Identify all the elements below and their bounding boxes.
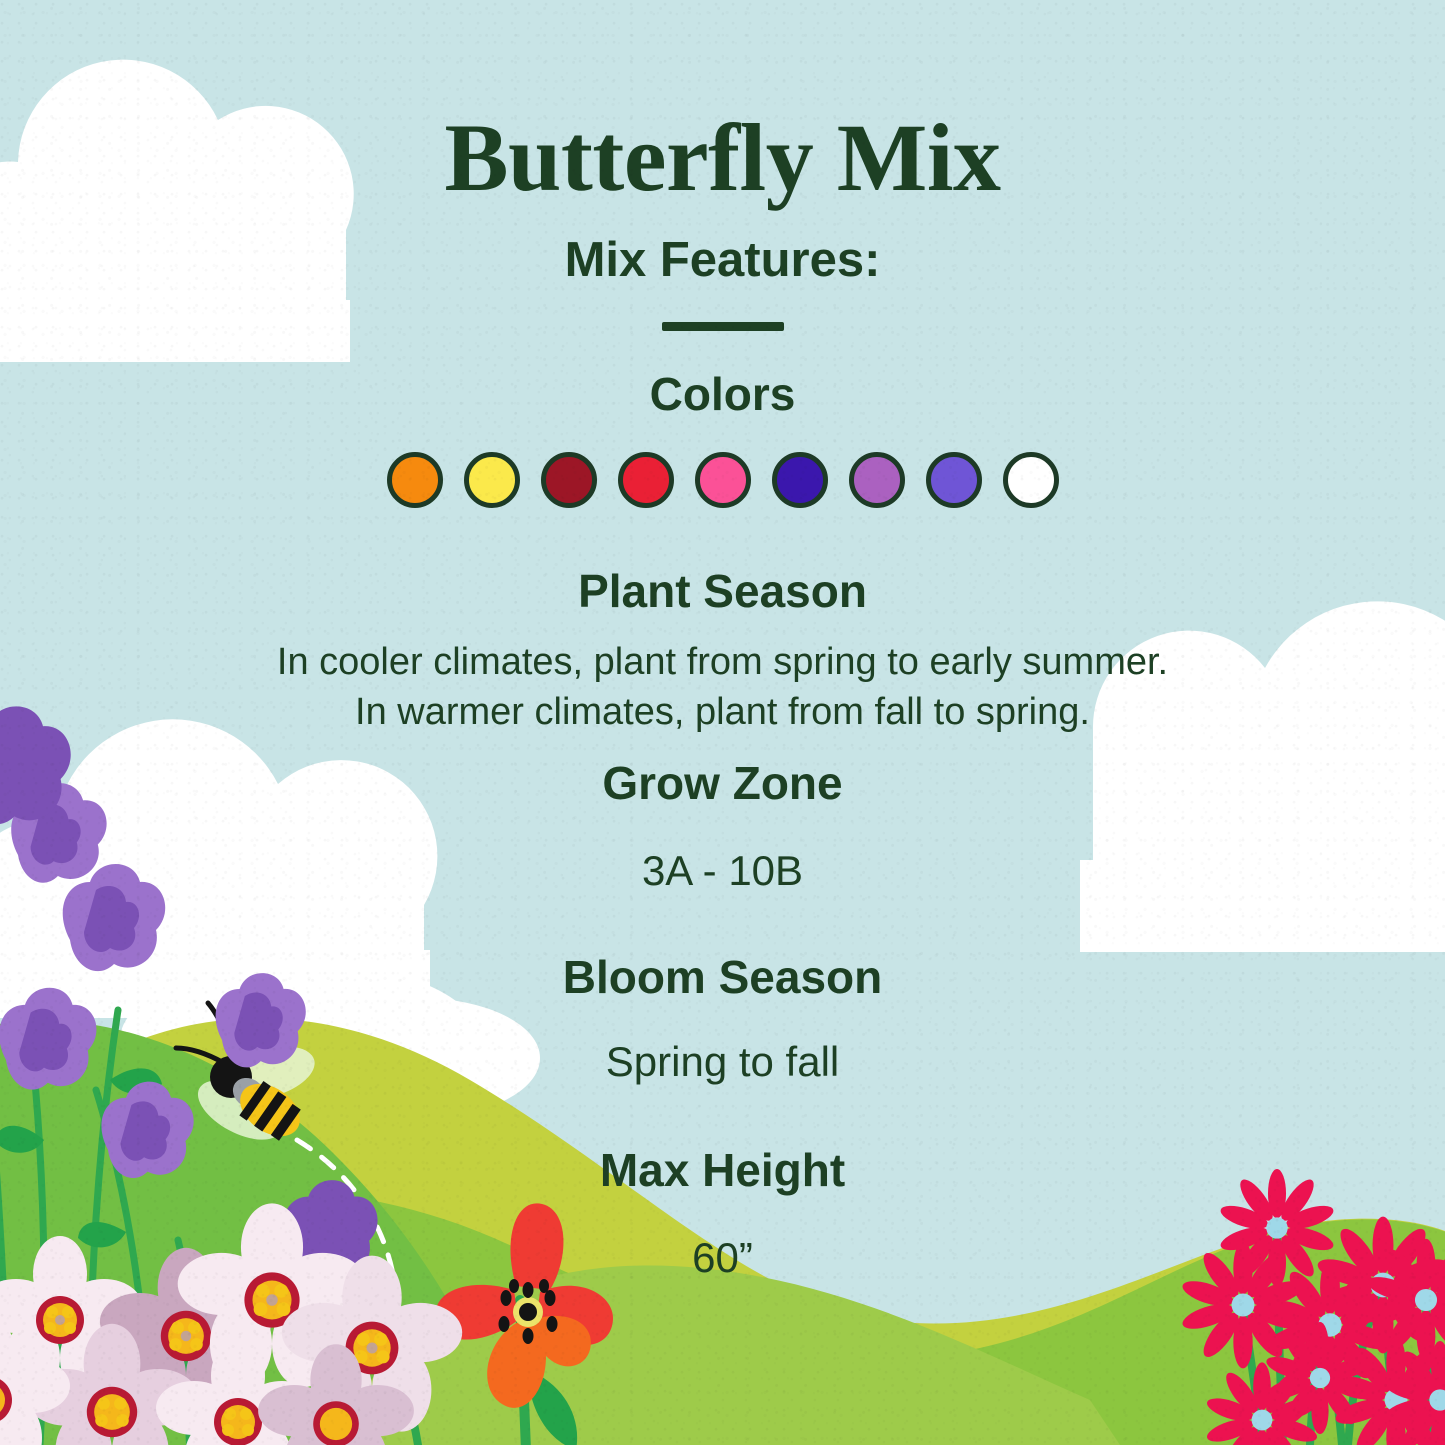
section-heading-bloom-season: Bloom Season — [0, 952, 1445, 1003]
color-swatch-orchid — [849, 452, 905, 508]
section-heading-colors: Colors — [0, 369, 1445, 420]
section-heading-plant-season: Plant Season — [0, 566, 1445, 617]
color-swatch-pink — [695, 452, 751, 508]
color-swatch-row — [0, 452, 1445, 508]
seed-packet-graphic: Butterfly Mix Mix Features: Colors Plant… — [0, 0, 1445, 1445]
color-swatch-red — [618, 452, 674, 508]
section-value-bloom-season: Spring to fall — [0, 1034, 1445, 1089]
section-value-grow-zone: 3A - 10B — [0, 843, 1445, 898]
section-heading-max-height: Max Height — [0, 1145, 1445, 1196]
section-body-plant-season: In cooler climates, plant from spring to… — [0, 637, 1445, 737]
color-swatch-dark-red — [541, 452, 597, 508]
color-swatch-yellow — [464, 452, 520, 508]
color-swatch-slate-purple — [926, 452, 982, 508]
section-heading-grow-zone: Grow Zone — [0, 758, 1445, 809]
title-divider — [662, 322, 784, 331]
color-swatch-orange — [387, 452, 443, 508]
color-swatch-white — [1003, 452, 1059, 508]
page-title: Butterfly Mix — [0, 108, 1445, 209]
color-swatch-indigo — [772, 452, 828, 508]
section-value-max-height: 60” — [0, 1230, 1445, 1285]
plant-season-line-2: In warmer climates, plant from fall to s… — [0, 687, 1445, 737]
plant-season-line-1: In cooler climates, plant from spring to… — [0, 637, 1445, 687]
page-subtitle: Mix Features: — [0, 234, 1445, 288]
